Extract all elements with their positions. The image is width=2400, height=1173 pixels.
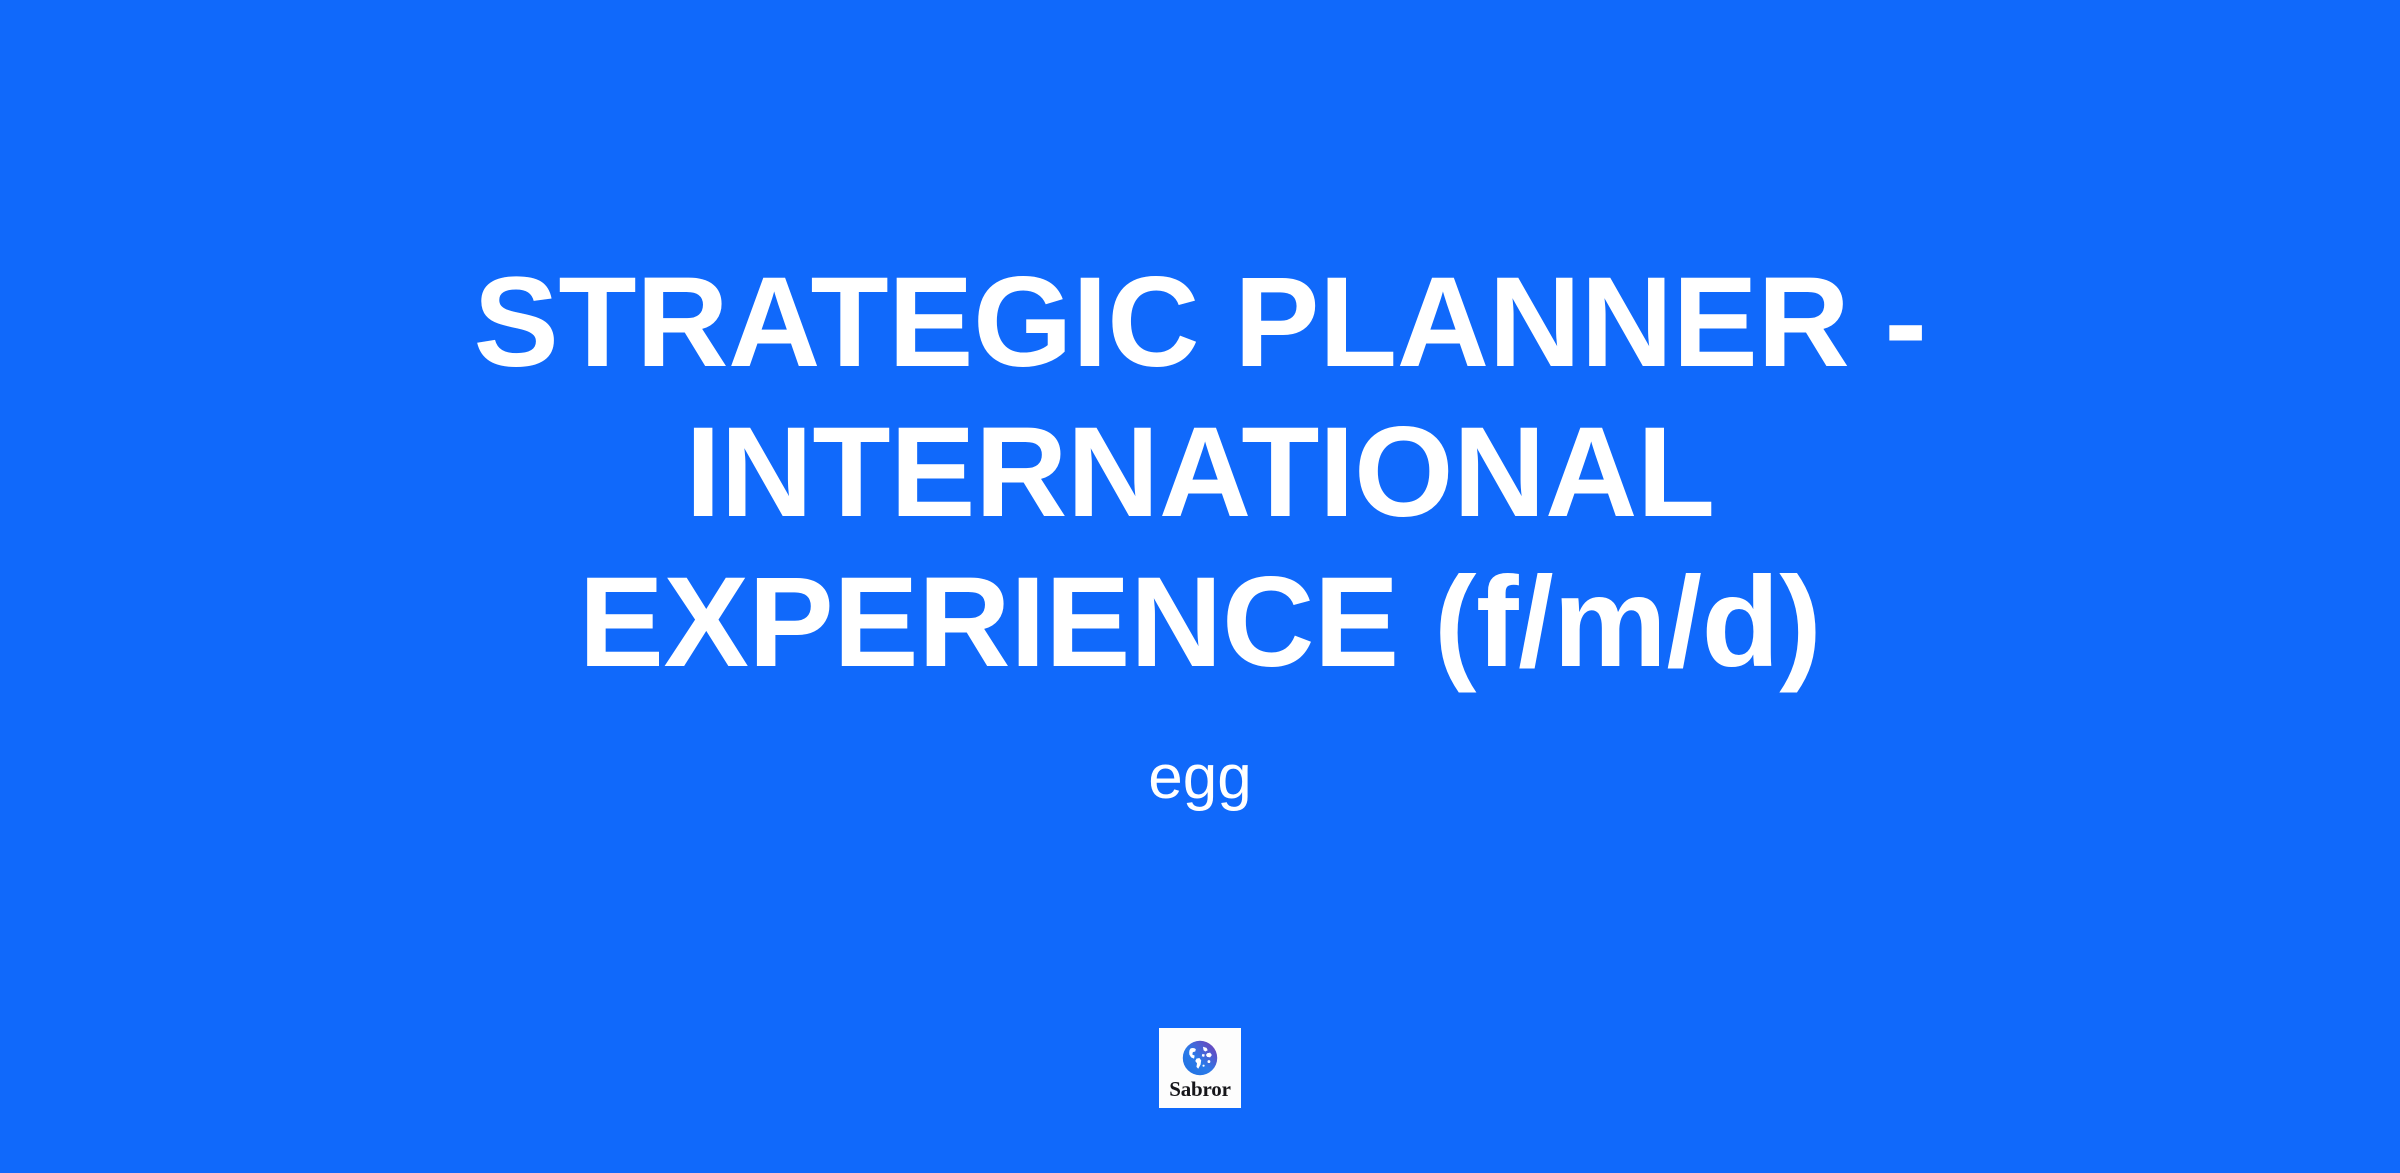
company-name: egg [320,742,2080,814]
logo-wordmark: Sabror [1169,1078,1230,1100]
job-share-card: STRATEGIC PLANNER - INTERNATIONAL EXPERI… [0,0,2400,1173]
globe-icon [1181,1039,1219,1077]
page-title: STRATEGIC PLANNER - INTERNATIONAL EXPERI… [320,248,2080,698]
company-logo-badge: Sabror [1159,1028,1241,1108]
job-card-content: STRATEGIC PLANNER - INTERNATIONAL EXPERI… [320,248,2080,814]
